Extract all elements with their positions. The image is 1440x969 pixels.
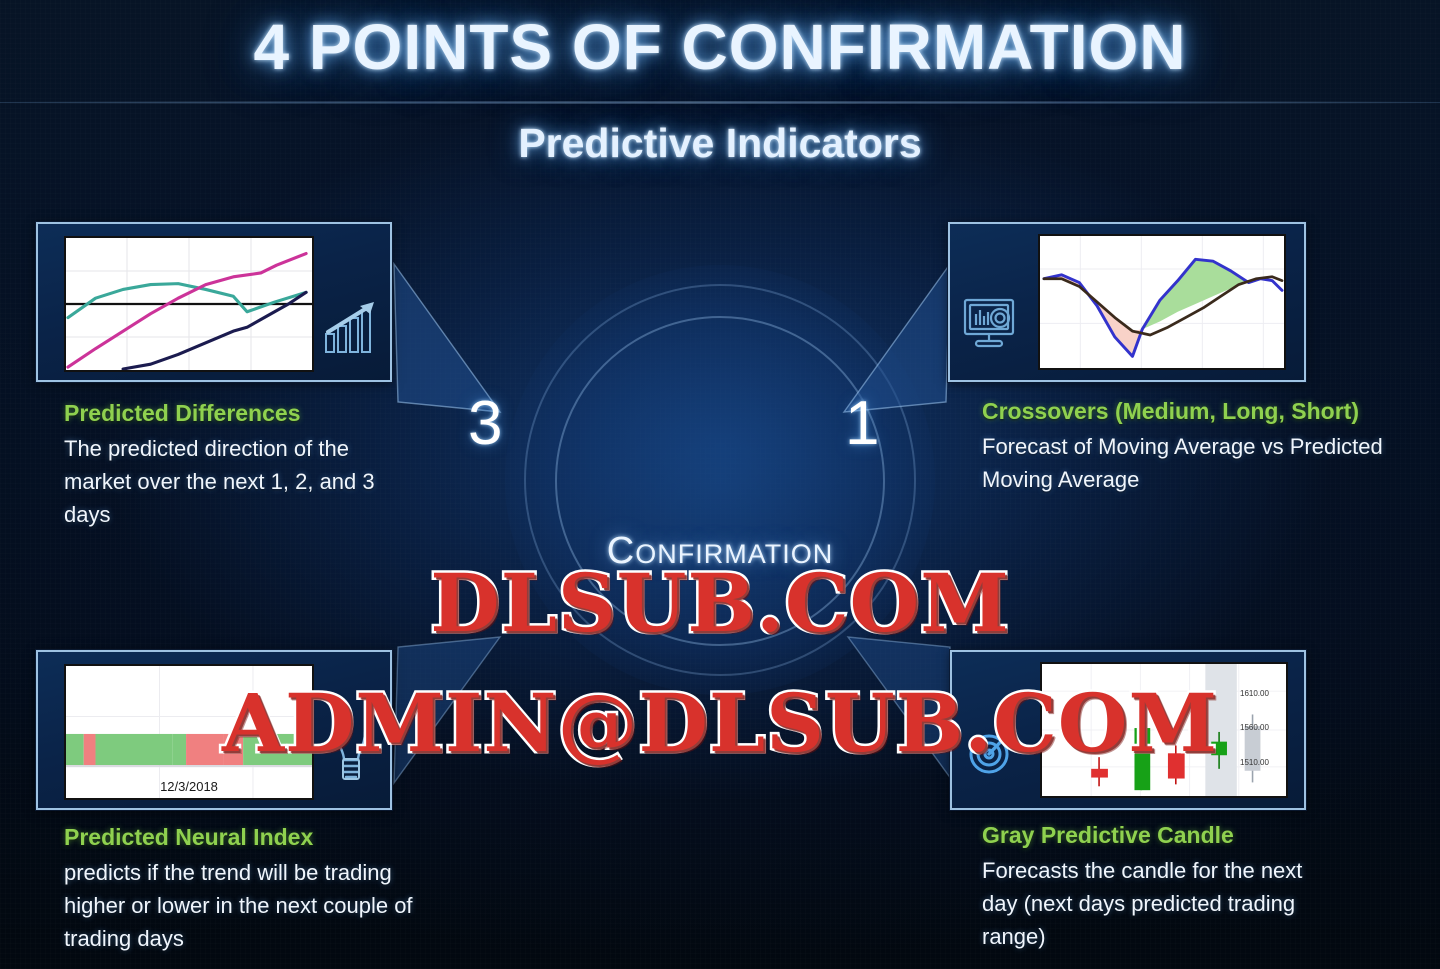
caption-body: Forecasts the candle for the next day (n… — [982, 854, 1342, 953]
caption-gray-predictive-candle: Gray Predictive Candle Forecasts the can… — [982, 822, 1342, 953]
caption-title: Predicted Differences — [64, 400, 394, 427]
caption-predicted-differences: Predicted Differences The predicted dire… — [64, 400, 394, 531]
page-subtitle: Predictive Indicators — [0, 120, 1440, 167]
thumbnail-predicted-differences-chart — [64, 236, 314, 372]
caption-predicted-neural-index: Predicted Neural Index predicts if the t… — [64, 824, 424, 955]
step-number-3: 3 — [468, 393, 502, 455]
monitor-analytics-icon — [960, 294, 1022, 352]
infographic-canvas: 4 POINTS OF CONFIRMATION Predictive Indi… — [0, 0, 1440, 969]
thumbnail-date-label: 12/3/2018 — [66, 779, 312, 794]
caption-body: predicts if the trend will be trading hi… — [64, 856, 424, 955]
caption-body: Forecast of Moving Average vs Predicted … — [982, 430, 1422, 496]
caption-title: Predicted Neural Index — [64, 824, 424, 851]
caption-crossovers: Crossovers (Medium, Long, Short) Forecas… — [982, 398, 1422, 496]
caption-title: Gray Predictive Candle — [982, 822, 1342, 849]
thumbnail-crossovers-chart — [1038, 234, 1286, 370]
watermark-email: ADMIN@DLSUB.COM — [0, 676, 1440, 770]
watermark-site: DLSUB.COM — [0, 556, 1440, 650]
card-predicted-differences[interactable] — [36, 222, 392, 382]
caption-title: Crossovers (Medium, Long, Short) — [982, 398, 1422, 425]
caption-body: The predicted direction of the market ov… — [64, 432, 394, 531]
page-title: 4 POINTS OF CONFIRMATION — [0, 10, 1440, 84]
bar-chart-growth-icon — [320, 298, 382, 356]
step-number-1: 1 — [845, 393, 879, 455]
card-crossovers[interactable] — [948, 222, 1306, 382]
